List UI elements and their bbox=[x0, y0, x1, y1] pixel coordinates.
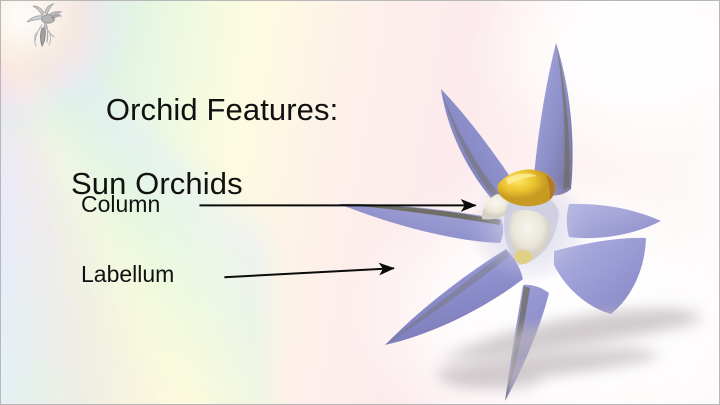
callout-label-column: Column bbox=[81, 191, 160, 217]
slide-canvas: Orchid Features: Sun Orchids Column Labe… bbox=[0, 0, 720, 405]
orchid-sketch-logo-icon bbox=[23, 3, 67, 51]
callout-label-labellum: Labellum bbox=[81, 261, 174, 287]
sun-orchid-image bbox=[301, 29, 701, 405]
throat-callus bbox=[514, 250, 532, 264]
slide-title: Orchid Features: Sun Orchids bbox=[71, 54, 338, 276]
title-line-1: Orchid Features: bbox=[106, 92, 338, 127]
